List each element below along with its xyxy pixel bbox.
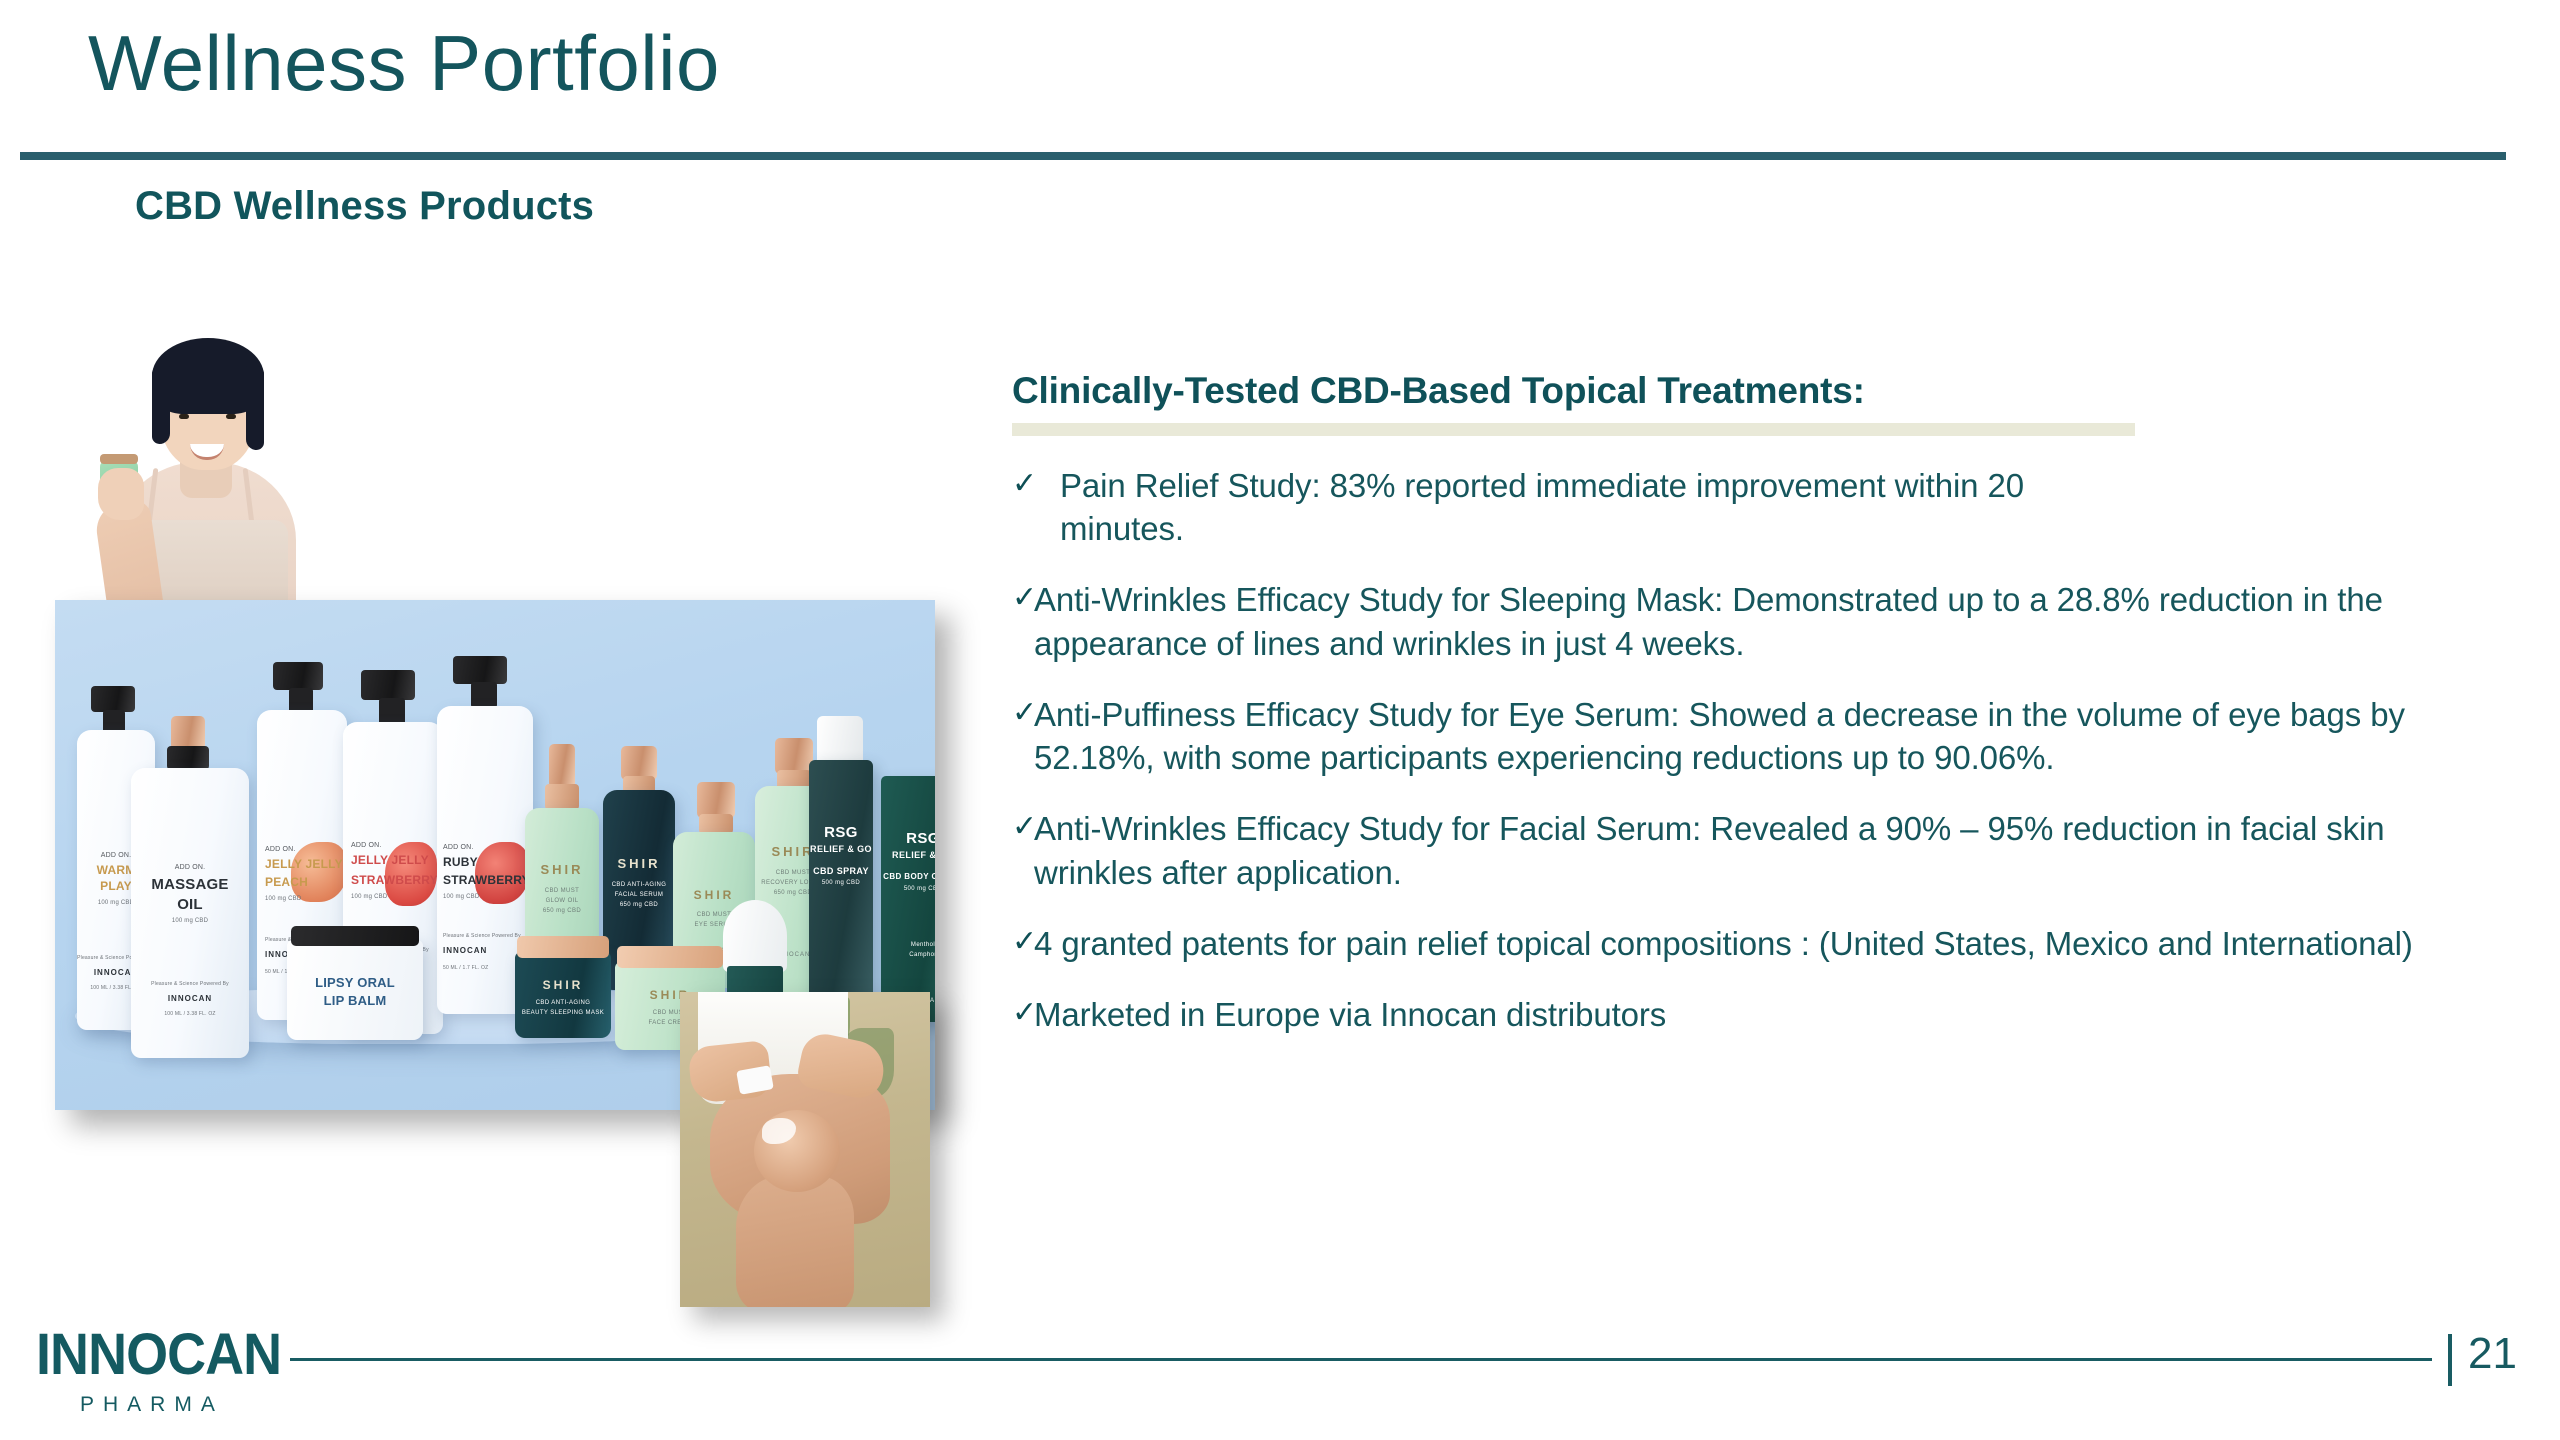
product-label-name1: CBD ANTI-AGING (603, 882, 675, 889)
left-image-group: ADD ON. WARM PLAY 100 mg CBD Pleasure & … (0, 280, 960, 1310)
product-label-sub: RELIEF & GO (809, 844, 873, 854)
logo-wordmark: INNOCAN (36, 1326, 287, 1384)
page-title: Wellness Portfolio (88, 22, 720, 105)
title-divider-rule (20, 152, 2506, 160)
product-label-dose: 500 mg CBD (809, 880, 873, 887)
product-label-brand: SHIR (525, 862, 599, 878)
slide: Wellness Portfolio CBD Wellness Products (0, 0, 2560, 1440)
checkmark-icon: ✓ (1012, 922, 1034, 963)
product-label-name2: STRAWBERRY (437, 874, 530, 888)
footer-divider-rule (290, 1358, 2432, 1361)
checkmark-icon: ✓ (1012, 993, 1034, 1034)
checkmark-icon: ✓ (1012, 578, 1034, 619)
product-massage-oil: ADD ON. MASSAGE OIL 100 mg CBD Pleasure … (131, 768, 249, 1058)
list-item-text: Anti-Wrinkles Efficacy Study for Sleepin… (1034, 578, 2429, 664)
page-number: 21 (2468, 1329, 2517, 1379)
spray-nozzle-cap (817, 716, 863, 764)
jar-lid (617, 946, 723, 968)
product-label-volume: 100 ML / 3.38 FL. OZ (131, 1012, 249, 1018)
jar-lid (517, 936, 609, 958)
product-label-name1: JELLY JELLY (257, 858, 343, 872)
dropper-collar (545, 784, 579, 810)
product-label-name1: CBD BODY CREAM (881, 872, 935, 881)
product-label-dose: 100 mg CBD (343, 894, 387, 901)
cream-tube-body (881, 776, 935, 1022)
product-label-dose: 100 mg CBD (131, 918, 249, 925)
woman-eye-left (179, 414, 189, 419)
product-label-brand: INNOCAN (437, 946, 487, 955)
content-heading: Clinically-Tested CBD-Based Topical Trea… (1012, 370, 2472, 412)
page-number-separator (2448, 1334, 2452, 1386)
pump-cap (697, 782, 735, 818)
product-label-dose: 650 mg CBD (525, 908, 599, 915)
list-item: ✓ Anti-Wrinkles Efficacy Study for Sleep… (1012, 578, 2472, 664)
product-label-name2: LIP BALM (287, 994, 423, 1009)
product-label-name1: RUBY (437, 856, 478, 870)
held-product-jar-lid (100, 454, 138, 464)
dropper-collar (167, 746, 209, 770)
product-label-tagline: Pleasure & Science Powered By (131, 982, 249, 988)
peach-graphic (291, 842, 347, 902)
product-label-extra2: Camphor (881, 952, 935, 959)
list-item-text: Marketed in Europe via Innocan distribut… (1034, 993, 2429, 1036)
product-rsg-body-cream: RSG RELIEF & GO CBD BODY CREAM 500 mg CB… (881, 776, 935, 1022)
woman-eye-right (226, 414, 236, 419)
checkmark-icon: ✓ (1012, 693, 1034, 734)
list-item: ✓ Anti-Puffiness Efficacy Study for Eye … (1012, 693, 2472, 779)
heading-underline-bar (1012, 423, 2135, 436)
content-panel: Clinically-Tested CBD-Based Topical Trea… (1012, 370, 2472, 1064)
pump-head (273, 662, 323, 690)
product-label-addon: ADD ON. (343, 842, 382, 850)
product-label-name1: CBD ANTI-AGING (515, 1000, 611, 1007)
woman-hand (98, 468, 144, 520)
product-label-dose: 100 mg CBD (257, 896, 301, 903)
lip-balm-lid (291, 926, 419, 946)
product-shir-sleeping-mask: SHIR CBD ANTI-AGING BEAUTY SLEEPING MASK (515, 952, 611, 1038)
product-label-name1: CBD MUST (525, 888, 599, 895)
product-label-addon: ADD ON. (437, 844, 474, 852)
list-item: ✓ Pain Relief Study: 83% reported immedi… (1012, 464, 2472, 550)
product-label-sub: RELIEF & GO (881, 850, 935, 860)
product-rsg-cbd-spray: RSG RELIEF & GO CBD SPRAY 500 mg CBD (809, 760, 873, 1010)
pump-head (91, 686, 135, 712)
product-label-addon: ADD ON. (131, 864, 249, 872)
product-label-brand: RSG (809, 824, 873, 841)
list-item: ✓ Marketed in Europe via Innocan distrib… (1012, 993, 2472, 1036)
pump-head (361, 670, 415, 700)
product-label-tagline: Pleasure & Science Powered By (437, 934, 521, 940)
list-item: ✓ Anti-Wrinkles Efficacy Study for Facia… (1012, 807, 2472, 893)
checkmark-icon: ✓ (1012, 807, 1034, 848)
slide-subtitle: CBD Wellness Products (135, 184, 594, 229)
list-item-text: Anti-Wrinkles Efficacy Study for Facial … (1034, 807, 2429, 893)
product-label-brand: SHIR (603, 856, 675, 872)
dropper-cap (171, 716, 205, 750)
list-item-text: Anti-Puffiness Efficacy Study for Eye Se… (1034, 693, 2429, 779)
product-label-brand: INNOCAN (131, 994, 249, 1003)
product-label-name1: JELLY JELLY (343, 854, 429, 868)
product-label-name1: CBD SPRAY (809, 866, 873, 876)
product-label-extra1: Menthol (881, 942, 935, 949)
innocan-logo: INNOCAN PHARMA (36, 1326, 306, 1417)
dropper-cap (549, 744, 575, 788)
list-item-text: Pain Relief Study: 83% reported immediat… (1060, 464, 2140, 550)
product-label-name2: FACIAL SERUM (603, 892, 675, 899)
logo-tagline: PHARMA (80, 1393, 306, 1417)
woman-hair-right (246, 366, 264, 450)
pump-neck (471, 682, 497, 708)
product-label-name2: GLOW OIL (525, 898, 599, 905)
product-label-dose: 100 mg CBD (437, 894, 479, 901)
list-item: ✓ 4 granted patents for pain relief topi… (1012, 922, 2472, 965)
slide-footer: INNOCAN PHARMA 21 (0, 1310, 2560, 1440)
product-label-brand: SHIR (515, 978, 611, 992)
product-label-dose: 650 mg CBD (603, 902, 675, 909)
pump-collar (699, 814, 733, 834)
pump-head (453, 656, 507, 684)
pump-cap (775, 738, 813, 774)
roll-on-cap (723, 900, 787, 972)
product-label-dose: 500 mg CBD (881, 886, 935, 893)
product-label-brand: RSG (881, 830, 935, 847)
product-label-addon: ADD ON. (257, 846, 296, 854)
product-label-name2: PEACH (257, 876, 308, 890)
list-item-text: 4 granted patents for pain relief topica… (1034, 922, 2429, 965)
product-label-name2: OIL (131, 896, 249, 913)
product-label-name2: STRAWBERRY (343, 874, 438, 888)
checkmark-icon: ✓ (1012, 464, 1060, 505)
leg-shin (736, 1176, 854, 1307)
product-label-name2: BEAUTY SLEEPING MASK (515, 1010, 611, 1017)
bullet-list: ✓ Pain Relief Study: 83% reported immedi… (1012, 464, 2472, 1036)
woman-hair-left (152, 366, 170, 444)
pump-cap (621, 746, 657, 780)
product-lipsy-lip-balm: LIPSY ORAL LIP BALM (287, 940, 423, 1040)
woman-with-product-photo (40, 292, 360, 622)
product-label-name1: LIPSY ORAL (287, 976, 423, 991)
product-label-volume: 50 ML / 1.7 FL. OZ (437, 966, 488, 972)
knee-application-photo (680, 992, 930, 1307)
product-label-name1: MASSAGE (131, 876, 249, 893)
